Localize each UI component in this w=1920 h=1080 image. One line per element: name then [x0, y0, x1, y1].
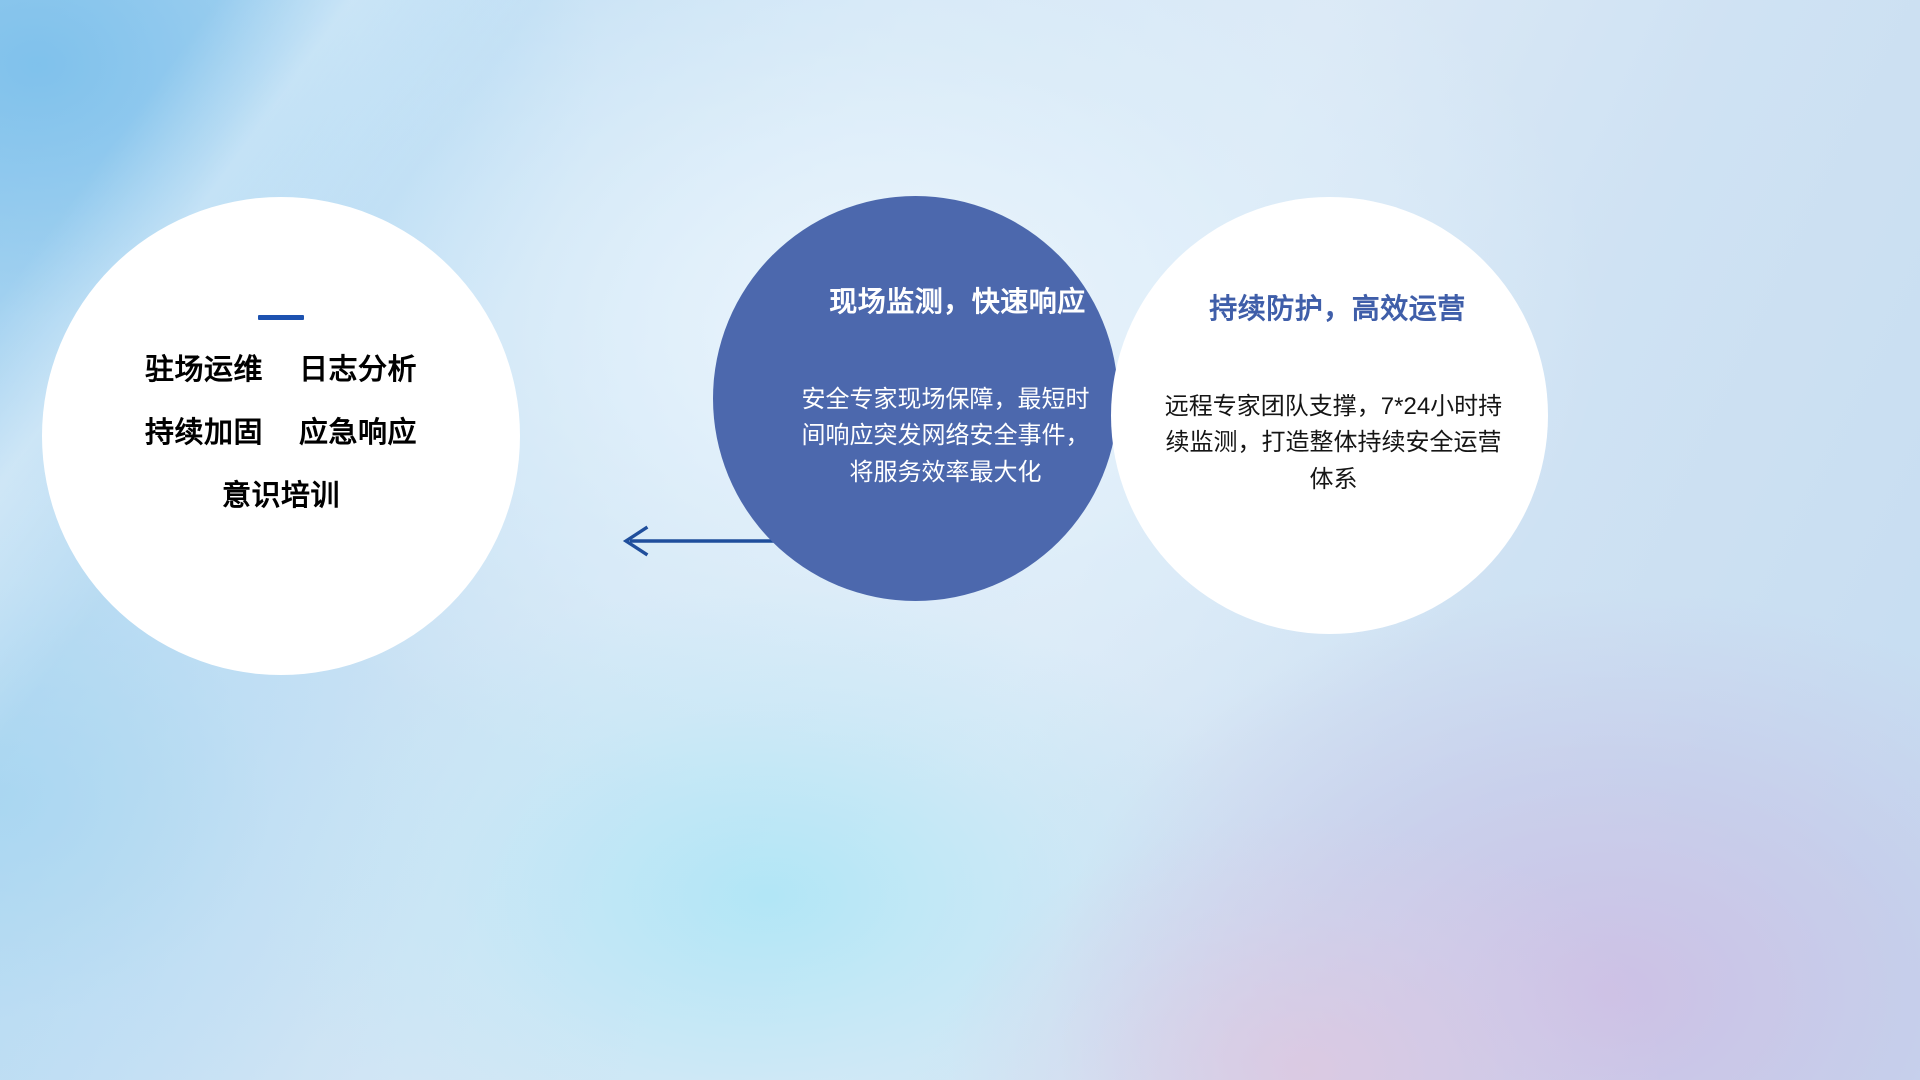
keyword-item: 驻场运维 — [145, 356, 263, 385]
left-keyword-circle: 驻场运维 日志分析 持续加固 应急响应 意识培训 — [42, 197, 520, 675]
middle-highlight-circle: 现场监测，快速响应 安全专家现场保障，最短时间响应突发网络安全事件，将服务效率最… — [713, 196, 1118, 601]
middle-card-title: 现场监测，快速响应 — [829, 280, 1086, 320]
keyword-item: 日志分析 — [299, 356, 417, 385]
keyword-item: 持续加固 — [145, 419, 263, 448]
keyword-item: 意识培训 — [222, 482, 340, 511]
right-highlight-circle: 持续防护，高效运营 远程专家团队支撑，7*24小时持续监测，打造整体持续安全运营… — [1111, 197, 1548, 634]
right-card-title: 持续防护，高效运营 — [1209, 287, 1466, 327]
keyword-item: 应急响应 — [299, 419, 417, 448]
right-card-body: 远程专家团队支撑，7*24小时持续监测，打造整体持续安全运营体系 — [1159, 389, 1509, 498]
slide-canvas: 驻场运维 日志分析 持续加固 应急响应 意识培训 现场监测，快速响应 安全专家现… — [0, 0, 1920, 1080]
title-divider-rule — [258, 315, 304, 320]
keyword-row: 驻场运维 日志分析 — [145, 356, 417, 385]
keyword-row: 意识培训 — [222, 482, 340, 511]
middle-card-body: 安全专家现场保障，最短时间响应突发网络安全事件，将服务效率最大化 — [796, 382, 1096, 491]
keyword-row: 持续加固 应急响应 — [145, 419, 417, 448]
